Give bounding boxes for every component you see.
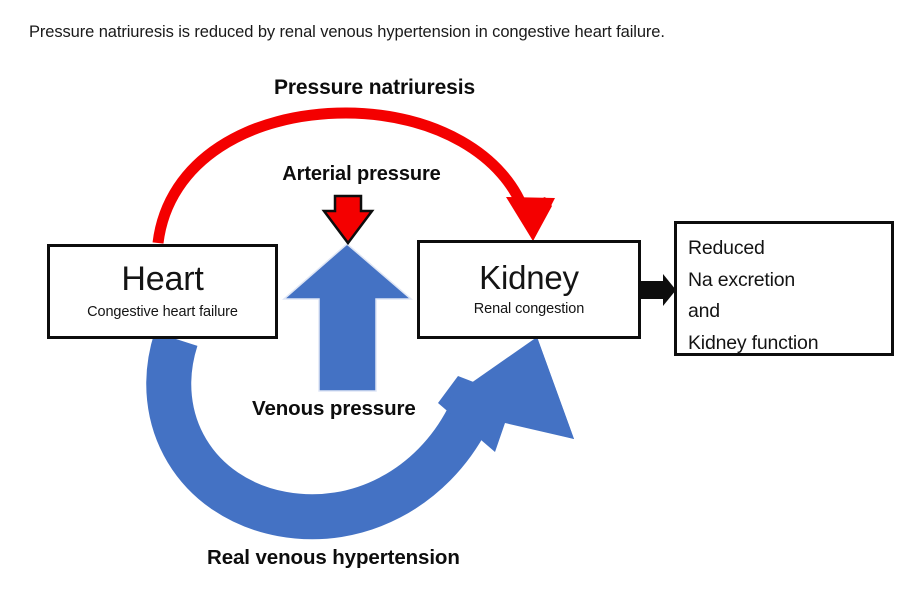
node-outcome[interactable]: Reduced Na excretion and Kidney function	[674, 221, 894, 356]
arterial-pressure-arrow	[324, 196, 372, 243]
kidney-to-outcome-arrow	[641, 274, 676, 306]
outcome-line: Kidney function	[688, 328, 891, 360]
node-kidney[interactable]: Kidney Renal congestion	[417, 240, 641, 339]
outcome-line: and	[688, 296, 891, 328]
node-outcome-lines: Reduced Na excretion and Kidney function	[677, 224, 891, 353]
outcome-line: Na excretion	[688, 265, 891, 297]
node-kidney-title: Kidney	[479, 261, 579, 295]
node-heart-title: Heart	[121, 262, 203, 297]
node-heart[interactable]: Heart Congestive heart failure	[47, 244, 278, 339]
label-venous-pressure: Venous pressure	[252, 397, 416, 421]
venous-pressure-arrow	[284, 244, 411, 391]
node-kidney-subtitle: Renal congestion	[474, 302, 584, 318]
outcome-line: Reduced	[688, 233, 891, 265]
node-heart-inner: Heart Congestive heart failure	[50, 247, 275, 336]
diagram-canvas: Pressure natriuresis is reduced by renal…	[0, 0, 901, 609]
label-pressure-natriuresis: Pressure natriuresis	[0, 76, 825, 100]
node-kidney-inner: Kidney Renal congestion	[420, 243, 638, 336]
label-arterial-pressure: Arterial pressure	[0, 163, 812, 186]
label-real-venous-hypertension: Real venous hypertension	[207, 546, 460, 570]
node-heart-subtitle: Congestive heart failure	[87, 305, 238, 321]
